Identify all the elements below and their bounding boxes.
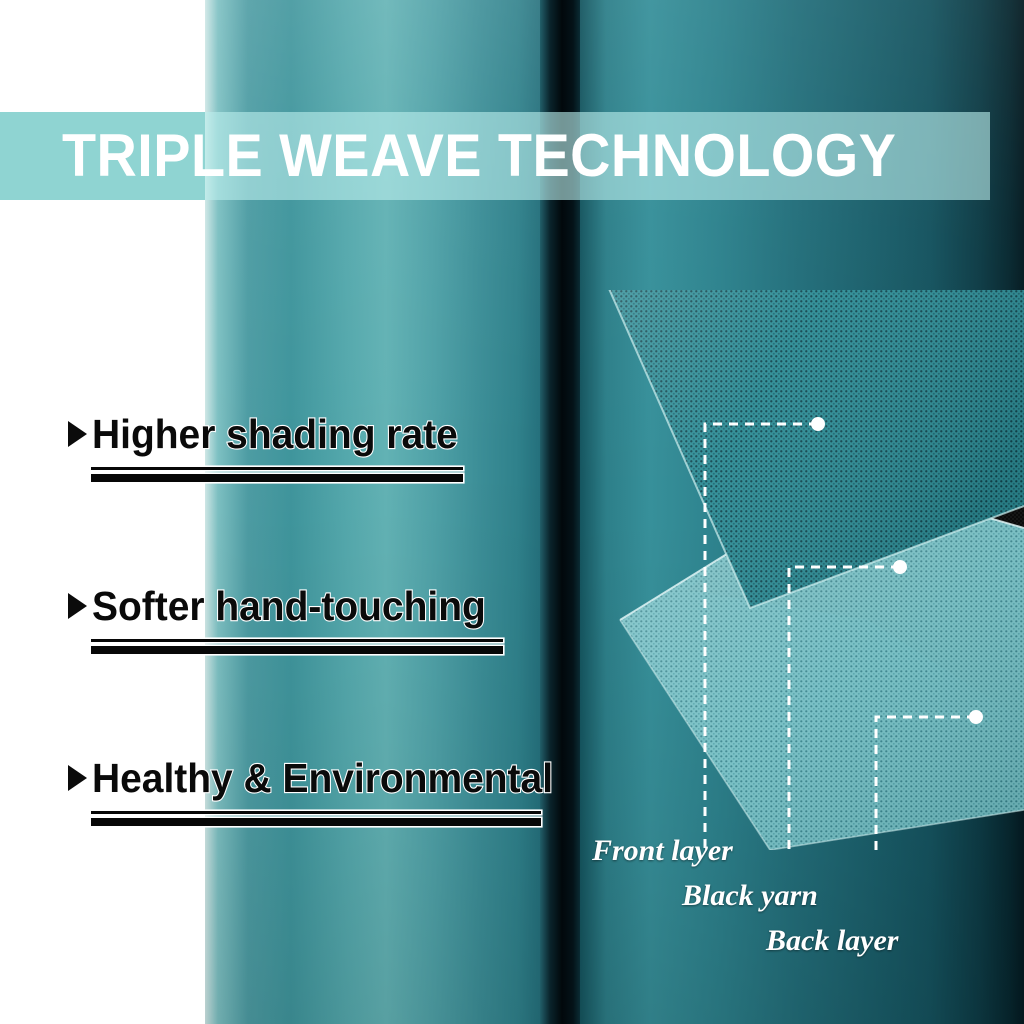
callout-dot-back-layer [969,710,983,724]
callout-label-black-yarn: Black yarn [682,880,818,912]
triangle-right-icon [68,593,87,619]
feature-label: Higher shading rate [92,412,458,456]
feature-item-softer-hand-touching: Softer hand-touching [68,580,577,654]
feature-rule-thick [91,646,503,654]
feature-label: Softer hand-touching [92,584,486,628]
feature-label: Healthy & Environmental [92,756,553,800]
feature-rule-thin [91,811,541,814]
feature-underline [91,467,577,482]
feature-rule-thick [91,474,463,482]
feature-rule-thick [91,818,541,826]
feature-underline [91,639,577,654]
feature-list: Higher shading rate Softer hand-touching… [68,408,577,826]
triangle-right-icon [68,421,87,447]
title-banner: TRIPLE WEAVE TECHNOLOGY [0,112,990,200]
triangle-right-icon [68,765,87,791]
triple-weave-layer-diagram [600,290,1024,850]
page-title: TRIPLE WEAVE TECHNOLOGY [62,126,896,186]
feature-rule-thin [91,467,463,470]
product-infographic: Front layer Black yarn Back layer TRIPLE… [0,0,1024,1024]
feature-item-healthy-environmental: Healthy & Environmental [68,752,577,826]
feature-rule-thin [91,639,503,642]
callout-label-front-layer: Front layer [592,835,733,867]
callout-dot-front-layer [811,417,825,431]
callout-dot-black-yarn [893,560,907,574]
feature-underline [91,811,577,826]
callout-label-back-layer: Back layer [766,925,898,957]
feature-item-higher-shading-rate: Higher shading rate [68,408,577,482]
